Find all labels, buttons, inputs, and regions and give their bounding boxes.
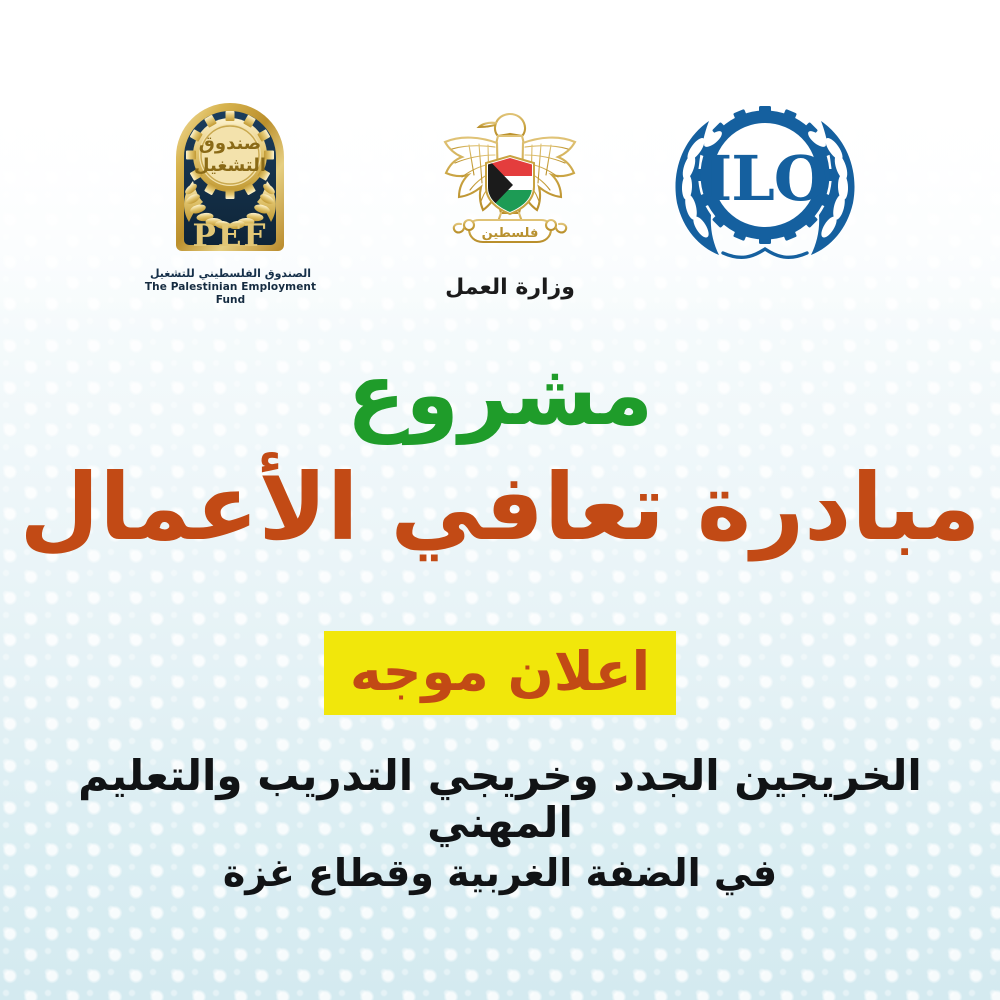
audience-line-1: الخريجين الجدد وخريجي التدريب والتعليم ا… — [50, 752, 950, 846]
ilo-emblem-icon: ILO — [663, 105, 868, 265]
pef-emblem-text-line1: صندوق — [199, 133, 261, 154]
pef-caption-arabic: الصندوق الفلسطيني للتشغيل — [143, 267, 318, 281]
project-label: مشروع — [0, 352, 1000, 438]
pef-emblem-icon: صندوق التشغيل — [143, 103, 318, 263]
audience-line-2: في الضفة الغربية وقطاع غزة — [50, 852, 950, 896]
pef-logo: صندوق التشغيل — [143, 103, 318, 307]
announcement-banner: اعلان موجه — [324, 631, 676, 715]
palestine-shield-icon — [485, 156, 535, 216]
ilo-monogram: ILO — [703, 142, 827, 215]
logo-row: صندوق التشغيل — [0, 95, 1000, 310]
pef-caption-english: The Palestinian Employment Fund — [143, 281, 318, 307]
audience-description: الخريجين الجدد وخريجي التدريب والتعليم ا… — [50, 752, 950, 896]
ministry-of-labour-logo: فلسطين وزا — [425, 101, 595, 300]
announcement-banner-wrap: اعلان موجه — [0, 631, 1000, 715]
eagle-of-palestine-icon: فلسطين — [425, 101, 595, 269]
poster-content: صندوق التشغيل — [0, 0, 1000, 1000]
ilo-logo: ILO — [660, 105, 870, 269]
shield-scroll-text: فلسطين — [482, 226, 539, 241]
project-title: مبادرة تعافي الأعمال — [0, 460, 1000, 557]
headline: مشروع مبادرة تعافي الأعمال — [0, 352, 1000, 557]
ministry-of-labour-caption: وزارة العمل — [425, 275, 595, 300]
announcement-poster: صندوق التشغيل — [0, 0, 1000, 1000]
pef-monogram: PEF — [193, 218, 268, 254]
pef-emblem-text-line2: التشغيل — [194, 155, 266, 176]
